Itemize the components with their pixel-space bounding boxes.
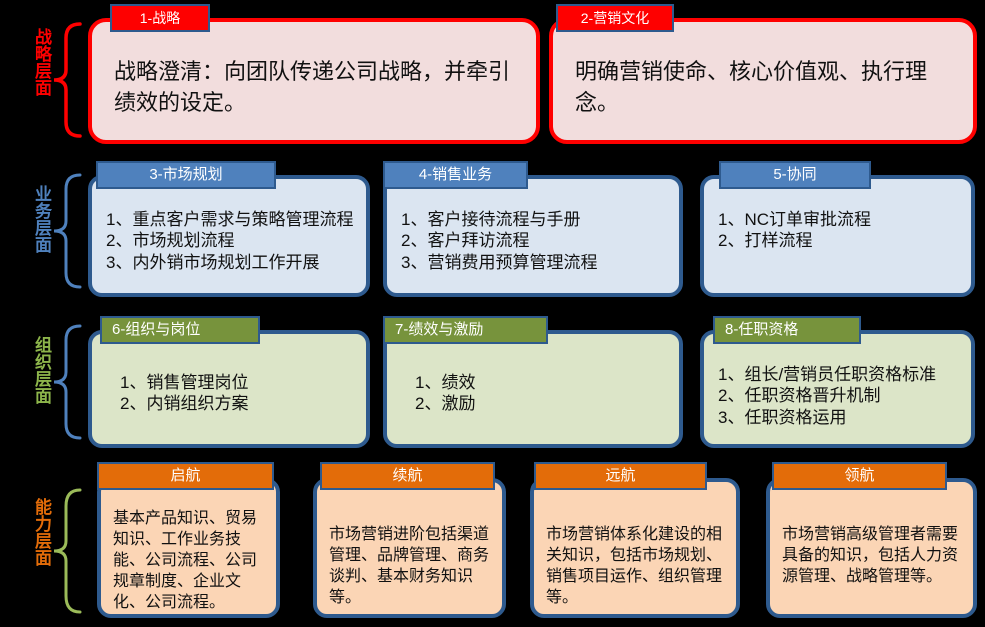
card-tab-strategy-2[interactable]: 2-营销文化	[556, 4, 674, 32]
card-capability-2[interactable]: 市场营销进阶包括渠道管理、品牌管理、商务谈判、基本财务知识等。	[313, 478, 506, 618]
card-tab-business-5[interactable]: 5-协同	[719, 161, 871, 189]
card-text: 市场营销进阶包括渠道管理、品牌管理、商务谈判、基本财务知识等。	[329, 524, 494, 608]
layer-label-organization: 组织层面	[8, 336, 50, 404]
brace-strategy	[50, 20, 84, 140]
card-text: 1、组长/营销员任职资格标准 2、任职资格晋升机制 3、任职资格运用	[718, 364, 961, 428]
card-tab-organization-8[interactable]: 8-任职资格	[713, 316, 861, 344]
card-strategy-1[interactable]: 战略澄清：向团队传递公司战略，并牵引绩效的设定。	[88, 18, 540, 144]
card-tab-strategy-1[interactable]: 1-战略	[110, 4, 210, 32]
card-tab-capability-4[interactable]: 领航	[772, 462, 947, 490]
card-strategy-2[interactable]: 明确营销使命、核心价值观、执行理念。	[549, 18, 977, 144]
card-text: 战略澄清：向团队传递公司战略，并牵引绩效的设定。	[114, 56, 518, 118]
layer-label-capability: 能力层面	[8, 498, 50, 566]
card-capability-4[interactable]: 市场营销高级管理者需要具备的知识，包括人力资源管理、战略管理等。	[766, 478, 977, 618]
card-organization-6[interactable]: 1、销售管理岗位 2、内销组织方案	[88, 330, 370, 448]
layer-row-business: 业务层面 1、重点客户需求与策略管理流程 2、市场规划流程 3、内外销市场规划工…	[0, 155, 985, 310]
card-text: 1、绩效 2、激励	[415, 372, 669, 415]
card-organization-8[interactable]: 1、组长/营销员任职资格标准 2、任职资格晋升机制 3、任职资格运用	[700, 330, 975, 448]
layer-row-strategy: 战略层面 战略澄清：向团队传递公司战略，并牵引绩效的设定。 1-战略 明确营销使…	[0, 0, 985, 155]
card-capability-3[interactable]: 市场营销体系化建设的相关知识，包括市场规划、销售项目运作、组织管理等。	[530, 478, 740, 618]
card-text: 市场营销体系化建设的相关知识，包括市场规划、销售项目运作、组织管理等。	[546, 524, 728, 608]
card-tab-business-4[interactable]: 4-销售业务	[383, 161, 528, 189]
card-capability-1[interactable]: 基本产品知识、贸易知识、工作业务技能、公司流程、公司规章制度、企业文化、公司流程…	[97, 478, 280, 618]
card-text: 明确营销使命、核心价值观、执行理念。	[575, 56, 955, 118]
card-business-5[interactable]: 1、NC订单审批流程 2、打样流程	[700, 175, 975, 297]
card-business-3[interactable]: 1、重点客户需求与策略管理流程 2、市场规划流程 3、内外销市场规划工作开展	[88, 175, 370, 297]
layer-row-capability: 能力层面 基本产品知识、贸易知识、工作业务技能、公司流程、公司规章制度、企业文化…	[0, 458, 985, 627]
layer-label-business: 业务层面	[8, 185, 50, 253]
card-text: 1、重点客户需求与策略管理流程 2、市场规划流程 3、内外销市场规划工作开展	[106, 209, 356, 273]
marketing-framework-diagram: 战略层面 战略澄清：向团队传递公司战略，并牵引绩效的设定。 1-战略 明确营销使…	[0, 0, 985, 627]
brace-organization	[50, 322, 84, 442]
card-tab-capability-1[interactable]: 启航	[97, 462, 274, 490]
layer-row-organization: 组织层面 1、销售管理岗位 2、内销组织方案 6-组织与岗位 1、绩效 2、激励…	[0, 310, 985, 458]
card-tab-capability-3[interactable]: 远航	[534, 462, 707, 490]
card-text: 基本产品知识、贸易知识、工作业务技能、公司流程、公司规章制度、企业文化、公司流程…	[113, 508, 268, 614]
brace-capability	[50, 486, 84, 616]
card-tab-capability-2[interactable]: 续航	[320, 462, 495, 490]
card-text: 1、NC订单审批流程 2、打样流程	[718, 209, 961, 252]
card-tab-business-3[interactable]: 3-市场规划	[96, 161, 276, 189]
layer-label-strategy: 战略层面	[8, 28, 50, 96]
card-business-4[interactable]: 1、客户接待流程与手册 2、客户拜访流程 3、营销费用预算管理流程	[383, 175, 683, 297]
card-text: 市场营销高级管理者需要具备的知识，包括人力资源管理、战略管理等。	[782, 524, 965, 587]
card-tab-organization-6[interactable]: 6-组织与岗位	[100, 316, 260, 344]
card-tab-organization-7[interactable]: 7-绩效与激励	[383, 316, 548, 344]
card-text: 1、销售管理岗位 2、内销组织方案	[120, 372, 356, 415]
brace-business	[50, 171, 84, 291]
card-text: 1、客户接待流程与手册 2、客户拜访流程 3、营销费用预算管理流程	[401, 209, 669, 273]
card-organization-7[interactable]: 1、绩效 2、激励	[383, 330, 683, 448]
